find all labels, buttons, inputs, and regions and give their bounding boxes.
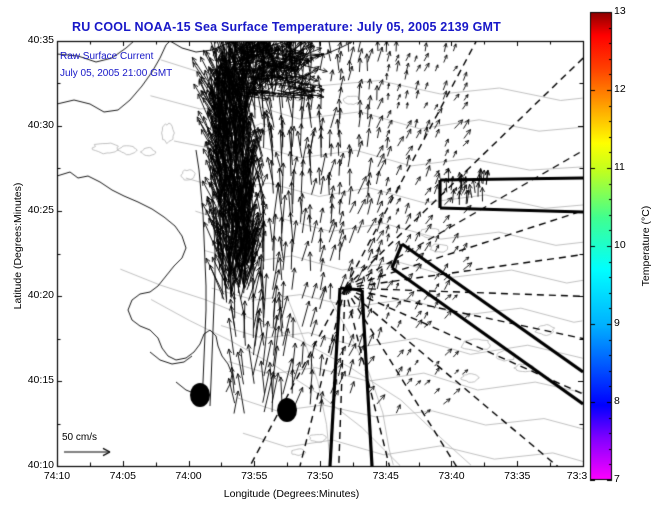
colorbar-tick-label: 7 bbox=[614, 473, 644, 485]
x-tick-label: 74:10 bbox=[27, 470, 87, 482]
x-tick-label: 74:00 bbox=[159, 470, 219, 482]
x-axis-ticks: 74:1074:0574:0073:5573:5073:4573:4073:35… bbox=[0, 470, 651, 486]
y-axis-label: Latitude (Degrees:Minutes) bbox=[12, 166, 24, 326]
colorbar-label: Temperature (°C) bbox=[640, 166, 651, 326]
scale-bar-label: 50 cm/s bbox=[62, 432, 97, 443]
x-axis-label: Longitude (Degrees:Minutes) bbox=[0, 488, 583, 500]
x-tick-label: 74:05 bbox=[93, 470, 153, 482]
annotation-timestamp: July 05, 2005 21:00 GMT bbox=[60, 68, 172, 79]
annotation-surface-current: Raw Surface Current bbox=[60, 51, 153, 62]
x-tick-label: 73:55 bbox=[224, 470, 284, 482]
x-tick-label: 73:40 bbox=[421, 470, 481, 482]
y-tick-label: 40:15 bbox=[14, 374, 54, 386]
x-tick-label: 73:45 bbox=[356, 470, 416, 482]
x-tick-label: 73:50 bbox=[290, 470, 350, 482]
y-tick-label: 40:30 bbox=[14, 119, 54, 131]
x-tick-label: 73:35 bbox=[487, 470, 547, 482]
y-tick-label: 40:35 bbox=[14, 34, 54, 46]
colorbar-tick-label: 8 bbox=[614, 395, 644, 407]
colorbar-tick-label: 12 bbox=[614, 83, 644, 95]
colorbar-tick-label: 13 bbox=[614, 5, 644, 17]
x-tick-label: 73:3 bbox=[547, 470, 607, 482]
page-title: RU COOL NOAA-15 Sea Surface Temperature:… bbox=[72, 20, 501, 34]
figure-canvas: RU COOL NOAA-15 Sea Surface Temperature:… bbox=[0, 0, 651, 515]
